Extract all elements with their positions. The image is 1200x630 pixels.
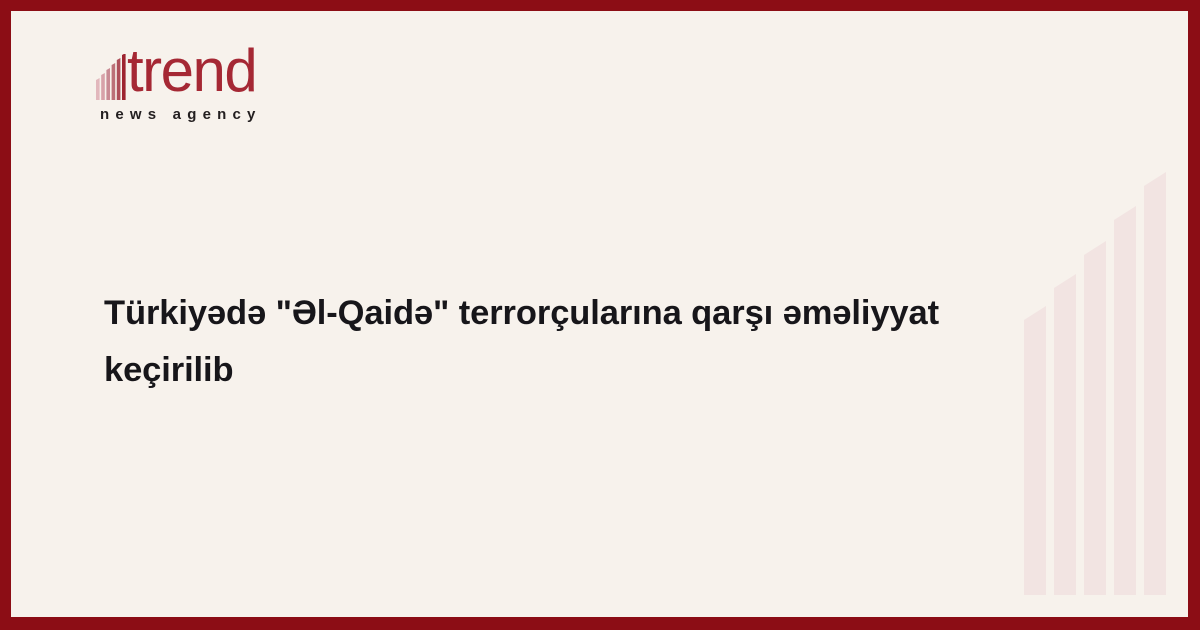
trend-news-agency-logo[interactable]: trend news agency xyxy=(96,42,262,123)
page-title: Türkiyədə "Əl-Qaidə" terrorçularına qarş… xyxy=(104,285,1024,399)
frame-border-left xyxy=(0,0,11,630)
bar-chart-decoration-icon xyxy=(1024,170,1170,595)
bar-chart-logo-icon xyxy=(96,54,126,100)
news-share-card: trend news agency Türkiyədə "Əl-Qaidə" t… xyxy=(0,0,1200,630)
logo-wordmark-row: trend xyxy=(96,42,262,100)
frame-border-bottom xyxy=(0,617,1200,630)
frame-border-top xyxy=(0,0,1200,11)
logo-tagline-text: news agency xyxy=(100,106,262,123)
frame-border-right xyxy=(1188,0,1200,630)
logo-wordmark-text: trend xyxy=(127,42,256,100)
